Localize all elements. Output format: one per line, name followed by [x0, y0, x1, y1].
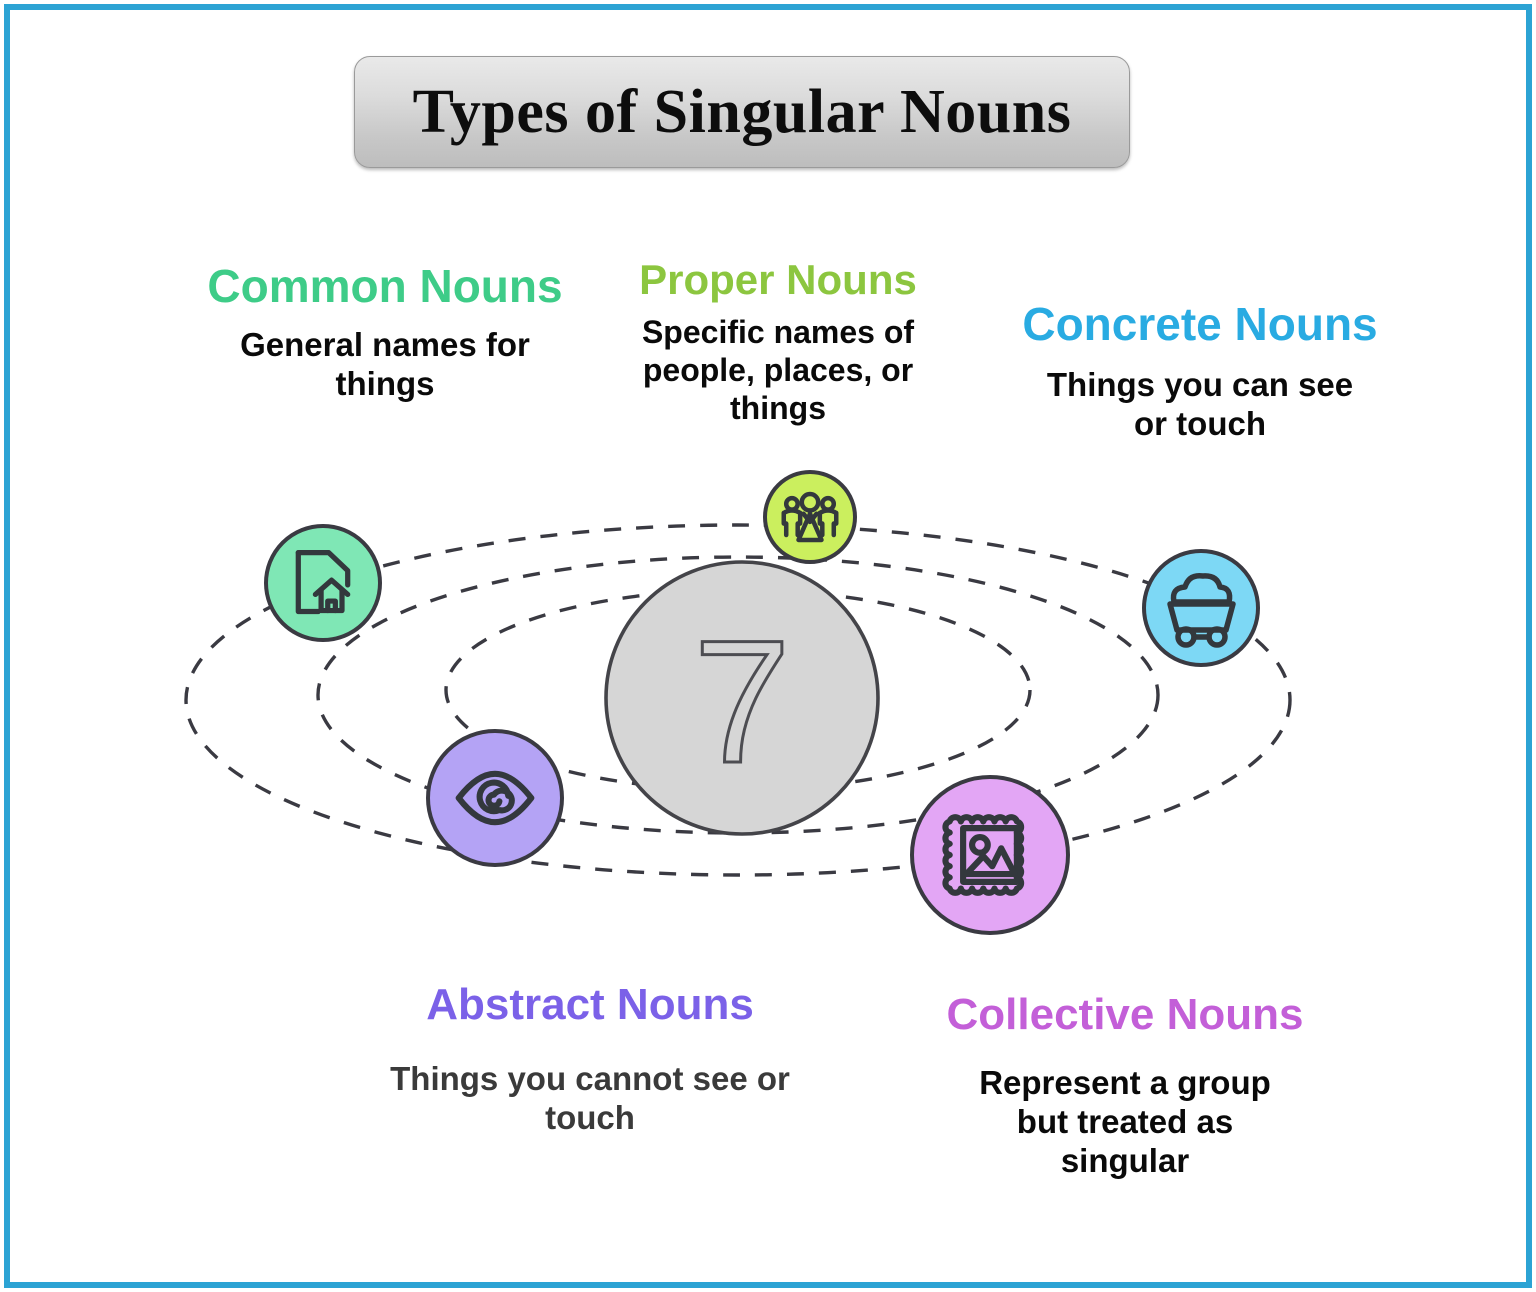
- page-title: Types of Singular Nouns: [413, 77, 1072, 148]
- category-description-collective: Represent a group but treated as singula…: [875, 1064, 1375, 1181]
- center-number: 7: [693, 605, 790, 800]
- node-circle-abstract[interactable]: [428, 731, 562, 865]
- category-label-collective: Collective Nouns Represent a group but t…: [875, 992, 1375, 1181]
- node-abstract[interactable]: [428, 731, 562, 865]
- category-label-common: Common Nouns General names for things: [150, 262, 620, 404]
- category-heading-abstract: Abstract Nouns: [340, 982, 840, 1028]
- node-collective[interactable]: [912, 777, 1068, 933]
- infographic-canvas: Types of Singular Nouns Common Nouns Gen…: [0, 0, 1536, 1292]
- category-description-common: General names for things: [150, 326, 620, 404]
- category-description-proper: Specific names of people, places, or thi…: [578, 314, 978, 427]
- category-heading-common: Common Nouns: [150, 262, 620, 310]
- node-proper[interactable]: [765, 472, 855, 562]
- node-circle-collective[interactable]: [912, 777, 1068, 933]
- node-circle-common[interactable]: [266, 526, 380, 640]
- title-banner: Types of Singular Nouns: [354, 56, 1130, 168]
- category-description-concrete: Things you can see or touch: [960, 366, 1440, 444]
- orbit-diagram: 7: [160, 440, 1340, 970]
- node-concrete[interactable]: [1144, 551, 1258, 665]
- category-heading-proper: Proper Nouns: [578, 258, 978, 302]
- category-heading-concrete: Concrete Nouns: [960, 300, 1440, 348]
- node-common[interactable]: [266, 526, 380, 640]
- node-circle-concrete[interactable]: [1144, 551, 1258, 665]
- category-description-abstract: Things you cannot see or touch: [340, 1060, 840, 1138]
- category-label-concrete: Concrete Nouns Things you can see or tou…: [960, 300, 1440, 444]
- category-label-proper: Proper Nouns Specific names of people, p…: [578, 258, 978, 427]
- category-label-abstract: Abstract Nouns Things you cannot see or …: [340, 982, 840, 1138]
- category-heading-collective: Collective Nouns: [875, 992, 1375, 1038]
